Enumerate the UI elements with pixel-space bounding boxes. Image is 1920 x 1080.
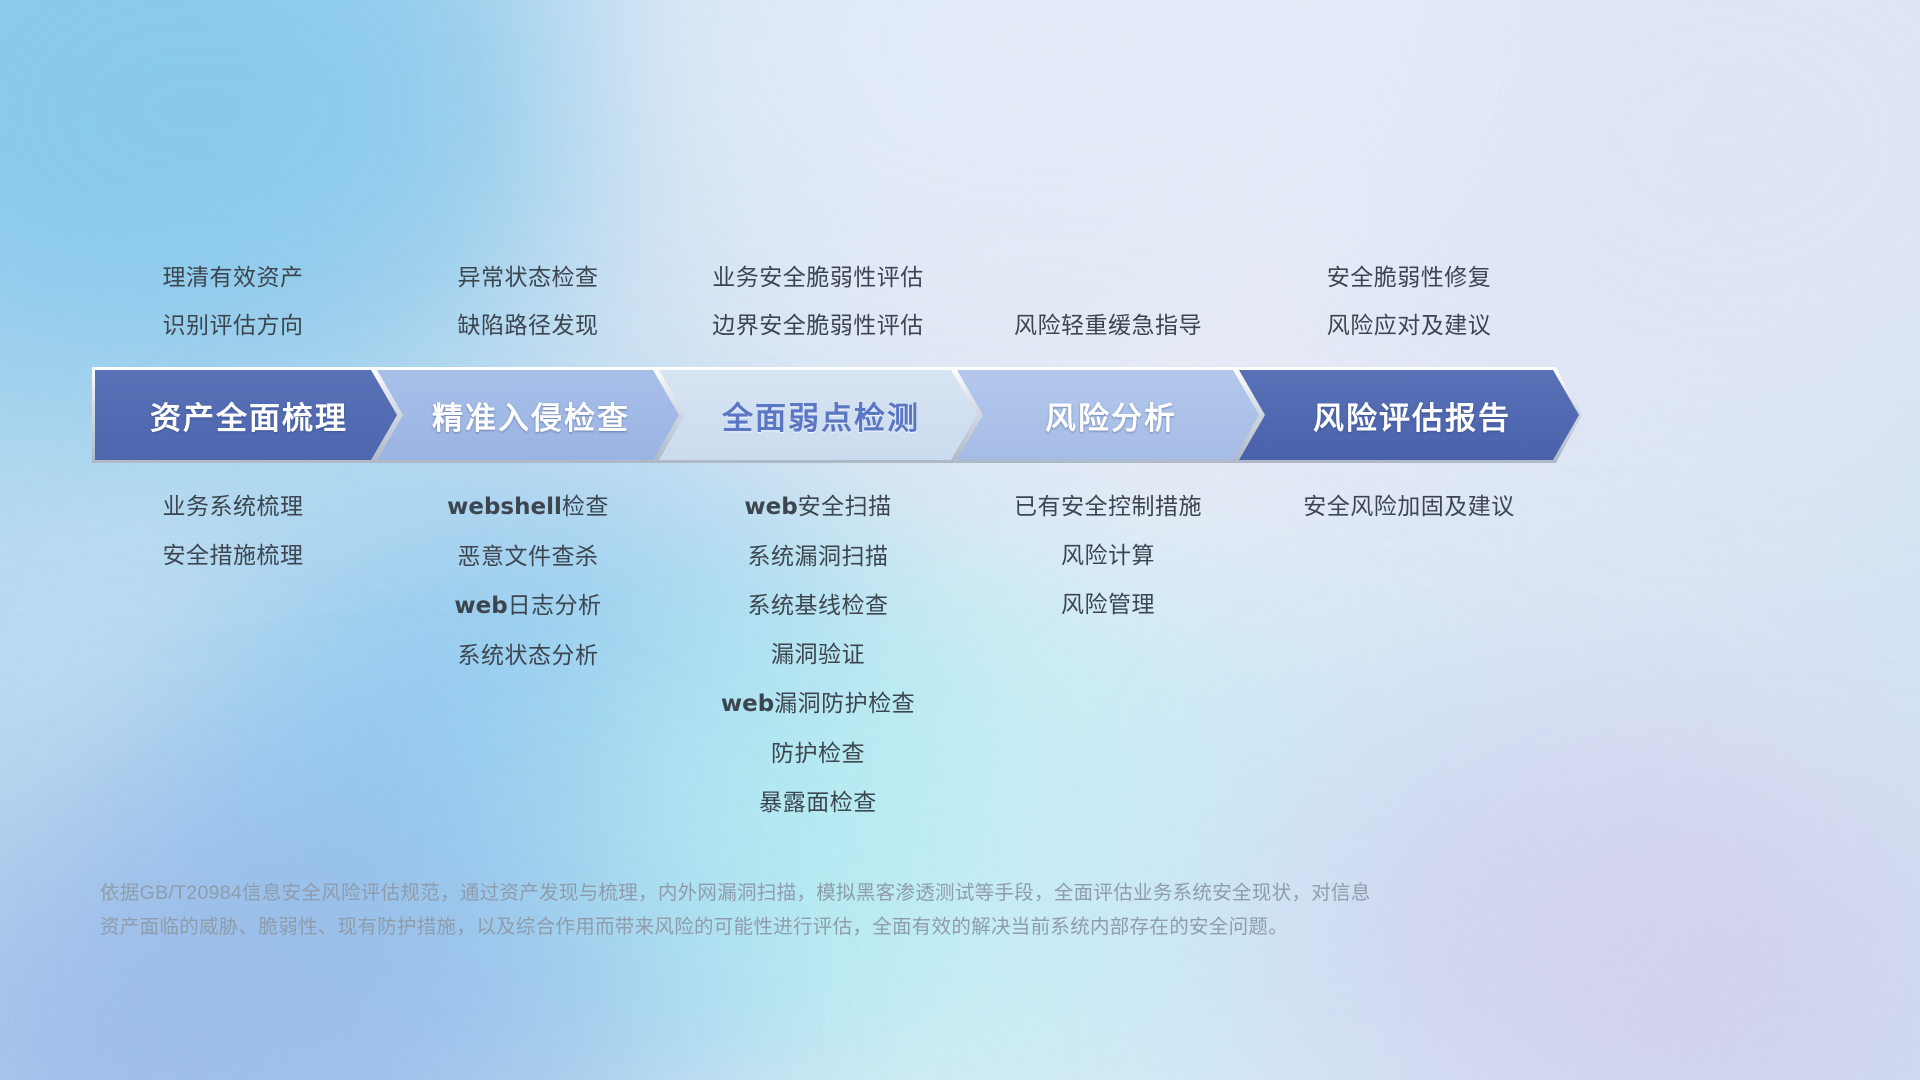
slide-canvas: 理清有效资产识别评估方向异常状态检查缺陷路径发现业务安全脆弱性评估边界安全脆弱性…	[0, 0, 1920, 1080]
descriptor-item: 恶意文件查杀	[458, 545, 599, 568]
stage-title: 风险分析	[1039, 393, 1177, 438]
descriptor-item: 风险管理	[1061, 593, 1155, 616]
descriptor-item: 漏洞验证	[771, 643, 865, 666]
descriptor-item: 安全措施梳理	[163, 544, 304, 567]
descriptor-item: 理清有效资产	[163, 266, 304, 289]
descriptor-item: 风险轻重缓急指导	[1014, 314, 1202, 337]
descriptor-item: 安全脆弱性修复	[1327, 266, 1492, 289]
footnote-line-2: 资产面临的威胁、脆弱性、现有防护措施，以及综合作用而带来风险的可能性进行评估，全…	[100, 910, 1640, 944]
descriptor-item: 系统状态分析	[458, 644, 599, 667]
descriptor-cjk: 风险计算	[1061, 542, 1155, 568]
descriptor-cjk: 日志分析	[508, 592, 602, 618]
descriptor-item: web安全扫描	[744, 495, 891, 519]
descriptor-item: 已有安全控制措施	[1014, 495, 1202, 518]
descriptor-item: 业务系统梳理	[163, 495, 304, 518]
descriptor-latin: web	[454, 593, 507, 619]
process-arrow-banner: 资产全面梳理精准入侵检查全面弱点检测风险分析风险评估报告	[92, 367, 1858, 463]
descriptor-item: 系统基线检查	[748, 594, 889, 617]
stage-title: 精准入侵检查	[426, 393, 630, 438]
descriptor-item: 业务安全脆弱性评估	[712, 266, 924, 289]
descriptor-latin: web	[721, 691, 774, 717]
process-stage-precise-intrusion-check[interactable]: 精准入侵检查	[374, 367, 682, 463]
process-stage-risk-assessment-report[interactable]: 风险评估报告	[1236, 367, 1582, 463]
descriptor-cjk: 业务系统梳理	[163, 493, 304, 519]
descriptor-item: 识别评估方向	[163, 314, 304, 337]
descriptor-cjk: 防护检查	[771, 740, 865, 766]
footnote: 依据GB/T20984信息安全风险评估规范，通过资产发现与梳理，内外网漏洞扫描，…	[100, 876, 1640, 944]
process-stage-full-weakness-detection[interactable]: 全面弱点检测	[656, 367, 980, 463]
descriptor-item: web日志分析	[454, 594, 601, 618]
descriptor-cjk: 暴露面检查	[759, 789, 877, 815]
top-items-risk-assessment-report: 安全脆弱性修复风险应对及建议	[1189, 266, 1629, 362]
descriptor-cjk: 安全风险加固及建议	[1303, 493, 1515, 519]
descriptor-cjk: 恶意文件查杀	[458, 543, 599, 569]
descriptor-cjk: 系统基线检查	[748, 592, 889, 618]
descriptor-cjk: 漏洞防护检查	[774, 690, 915, 716]
descriptor-item: 风险计算	[1061, 544, 1155, 567]
process-stage-asset-inventory[interactable]: 资产全面梳理	[92, 367, 400, 463]
descriptor-cjk: 安全扫描	[798, 493, 892, 519]
descriptor-item: web漏洞防护检查	[721, 692, 915, 716]
descriptor-item: 防护检查	[771, 742, 865, 765]
descriptor-latin: webshell	[447, 494, 562, 520]
descriptor-item: 缺陷路径发现	[458, 314, 599, 337]
stage-title: 全面弱点检测	[716, 393, 920, 438]
descriptor-cjk: 系统漏洞扫描	[748, 543, 889, 569]
process-stage-risk-analysis[interactable]: 风险分析	[954, 367, 1262, 463]
top-descriptor-row: 理清有效资产识别评估方向异常状态检查缺陷路径发现业务安全脆弱性评估边界安全脆弱性…	[0, 232, 1920, 362]
descriptor-cjk: 安全措施梳理	[163, 542, 304, 568]
descriptor-cjk: 系统状态分析	[458, 642, 599, 668]
descriptor-item: 暴露面检查	[759, 791, 877, 814]
stage-title: 资产全面梳理	[144, 393, 348, 438]
descriptor-item: 异常状态检查	[458, 266, 599, 289]
stage-title: 风险评估报告	[1307, 393, 1511, 438]
descriptor-cjk: 已有安全控制措施	[1014, 493, 1202, 519]
slide-content: 理清有效资产识别评估方向异常状态检查缺陷路径发现业务安全脆弱性评估边界安全脆弱性…	[0, 0, 1920, 1080]
descriptor-cjk: 风险管理	[1061, 591, 1155, 617]
descriptor-item: webshell检查	[447, 495, 609, 519]
descriptor-item: 风险应对及建议	[1327, 314, 1492, 337]
descriptor-latin: web	[744, 494, 797, 520]
footnote-line-1: 依据GB/T20984信息安全风险评估规范，通过资产发现与梳理，内外网漏洞扫描，…	[100, 876, 1640, 910]
descriptor-item: 系统漏洞扫描	[748, 545, 889, 568]
bottom-items-risk-assessment-report: 安全风险加固及建议	[1189, 495, 1629, 544]
descriptor-cjk: 漏洞验证	[771, 641, 865, 667]
descriptor-item: 安全风险加固及建议	[1303, 495, 1515, 518]
